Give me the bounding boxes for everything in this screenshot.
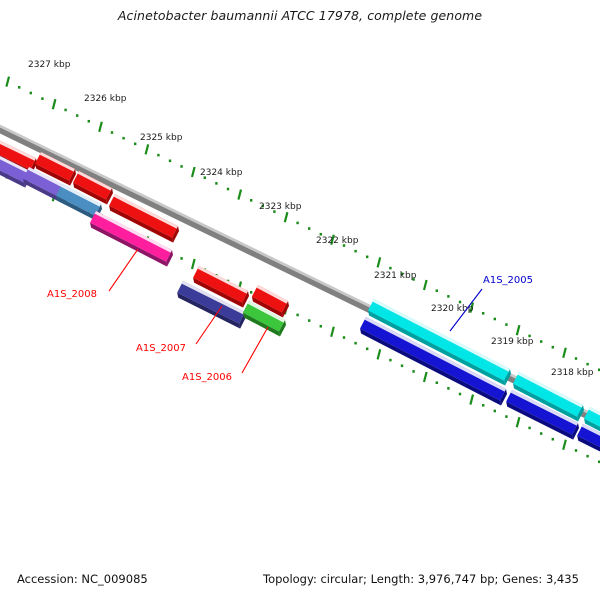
axis-tick-label: 2326 kbp [84,94,127,104]
axis-tick-label: 2318 kbp [551,368,594,378]
axis-tick-label: 2321 kbp [374,271,417,281]
axis-tick-label: 2319 kbp [491,337,534,347]
gene-callout-label: A1S_2006 [182,372,232,383]
axis-tick-label: 2327 kbp [28,60,71,70]
genome-map-canvas[interactable]: 2327 kbp2326 kbp2325 kbp2324 kbp2323 kbp… [0,0,600,600]
gene-callout-a1s_2007[interactable]: A1S_2007 [136,306,222,354]
ruler-dash-line-upper [0,54,600,403]
gene-callout-a1s_2006[interactable]: A1S_2006 [182,327,268,383]
gene-callout-label: A1S_2007 [136,343,186,354]
gene-callout-a1s_2005[interactable]: A1S_2005 [450,275,533,331]
genome-map-viewer: Acinetobacter baumannii ATCC 17978, comp… [0,0,600,600]
gene-callout-a1s_2008[interactable]: A1S_2008 [47,249,138,300]
gene-callout-label: A1S_2005 [483,275,533,286]
status-bar: Accession: NC_009085 Topology: circular;… [0,572,600,592]
topology-text: Topology: circular; Length: 3,976,747 bp… [263,572,579,586]
accession-text: Accession: NC_009085 [17,572,148,586]
axis-tick-label: 2323 kbp [259,202,302,212]
axis-tick-label: 2322 kbp [316,236,359,246]
ruler-dash-line-lower [0,146,600,495]
gene-callout-label: A1S_2008 [47,289,97,300]
axis-tick-label: 2324 kbp [200,168,243,178]
axis-tick-label-layer: 2327 kbp2326 kbp2325 kbp2324 kbp2323 kbp… [28,60,594,378]
axis-tick-label: 2325 kbp [140,133,183,143]
